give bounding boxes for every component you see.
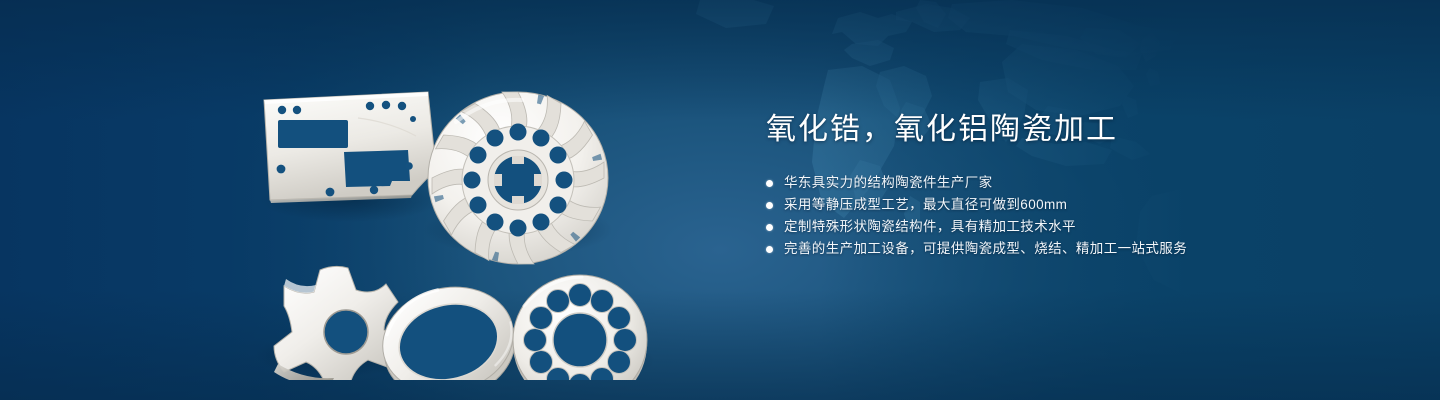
bullet-dot-icon (766, 180, 773, 187)
banner-headline: 氧化锆，氧化铝陶瓷加工 (766, 110, 1386, 150)
promo-banner: 氧化锆，氧化铝陶瓷加工 华东具实力的结构陶瓷件生产厂家 采用等静压成型工艺，最大… (0, 0, 1440, 400)
ceramic-vaned-impeller (428, 92, 608, 264)
background-top-vignette (0, 0, 1440, 120)
feature-text: 完善的生产加工设备，可提供陶瓷成型、烧结、精加工一站式服务 (784, 238, 1187, 260)
ceramic-mounting-plate (264, 92, 436, 203)
list-item: 采用等静压成型工艺，最大直径可做到600mm (766, 194, 1386, 216)
banner-copy: 氧化锆，氧化铝陶瓷加工 华东具实力的结构陶瓷件生产厂家 采用等静压成型工艺，最大… (766, 110, 1386, 260)
bullet-dot-icon (766, 246, 773, 253)
feature-text: 华东具实力的结构陶瓷件生产厂家 (784, 172, 993, 194)
bullet-dot-icon (766, 202, 773, 209)
list-item: 完善的生产加工设备，可提供陶瓷成型、烧结、精加工一站式服务 (766, 238, 1386, 260)
ceramic-cross-part (274, 266, 402, 380)
ceramic-perforated-disc (513, 275, 647, 380)
list-item: 定制特殊形状陶瓷结构件，具有精加工技术水平 (766, 216, 1386, 238)
list-item: 华东具实力的结构陶瓷件生产厂家 (766, 172, 1386, 194)
feature-list: 华东具实力的结构陶瓷件生产厂家 采用等静压成型工艺，最大直径可做到600mm 定… (766, 172, 1386, 260)
background-bottom-vignette (0, 290, 1440, 400)
feature-text: 采用等静压成型工艺，最大直径可做到600mm (784, 194, 1067, 216)
feature-text: 定制特殊形状陶瓷结构件，具有精加工技术水平 (784, 216, 1076, 238)
ceramic-products-image (240, 40, 680, 380)
bullet-dot-icon (766, 224, 773, 231)
ceramic-ring (371, 274, 526, 380)
